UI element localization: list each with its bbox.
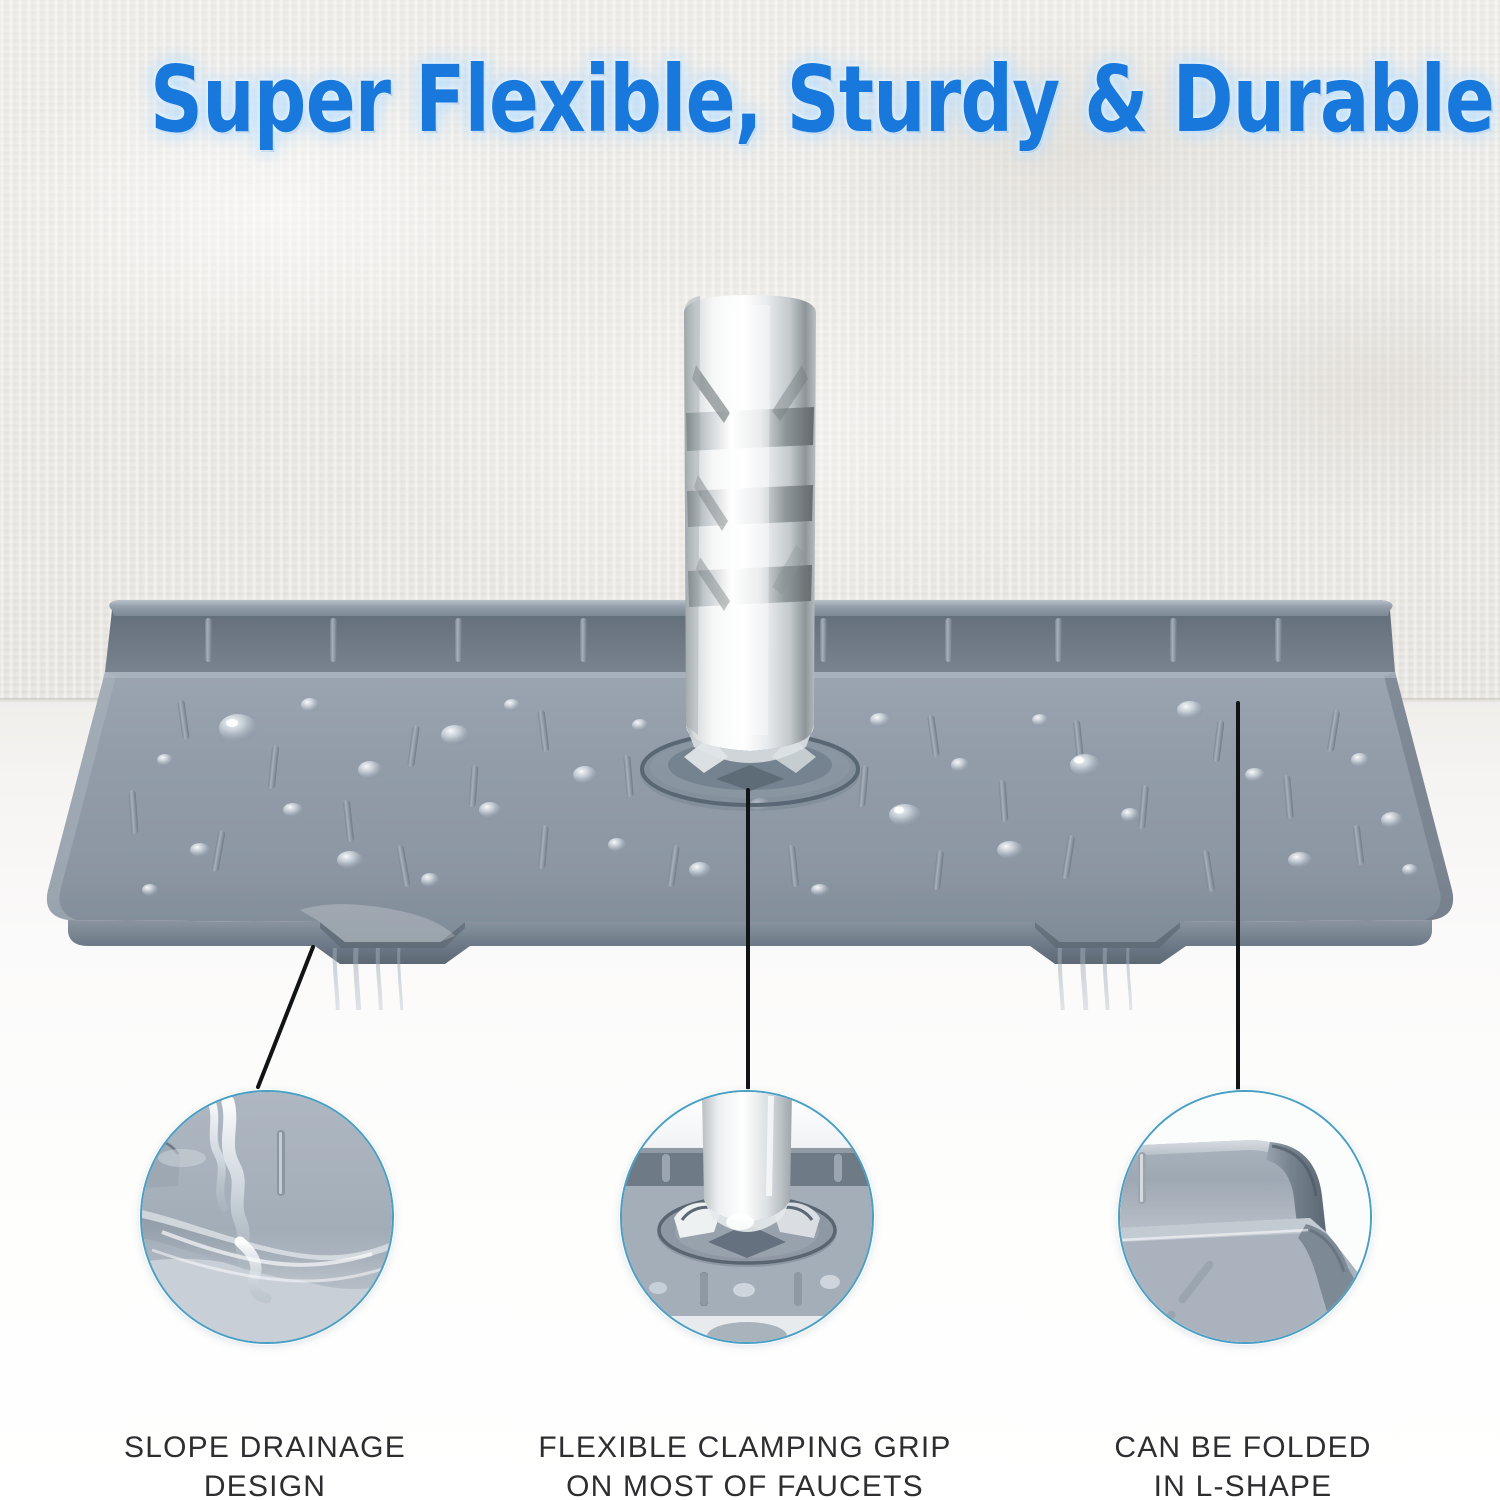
callout-slope-drainage	[140, 1090, 394, 1344]
caption-line-1: CAN BE FOLDED	[1023, 1428, 1463, 1467]
caption-foldable: CAN BE FOLDED IN L-SHAPE	[1023, 1428, 1463, 1500]
caption-clamping-grip: FLEXIBLE CLAMPING GRIP ON MOST OF FAUCET…	[525, 1428, 965, 1500]
caption-line-1: FLEXIBLE CLAMPING GRIP	[525, 1428, 965, 1467]
page-title: Super Flexible, Sturdy & Durable	[150, 52, 1350, 149]
caption-slope-drainage: SLOPE DRAINAGE DESIGN	[45, 1428, 485, 1500]
callout-clamping-grip	[620, 1090, 874, 1344]
caption-line-2: IN L-SHAPE	[1023, 1467, 1463, 1500]
caption-line-2: DESIGN	[45, 1467, 485, 1500]
chrome-faucet	[600, 295, 900, 855]
product-infographic: Super Flexible, Sturdy & Durable	[0, 0, 1500, 1500]
caption-line-1: SLOPE DRAINAGE	[45, 1428, 485, 1467]
callout-foldable	[1118, 1090, 1372, 1344]
caption-line-2: ON MOST OF FAUCETS	[525, 1467, 965, 1500]
